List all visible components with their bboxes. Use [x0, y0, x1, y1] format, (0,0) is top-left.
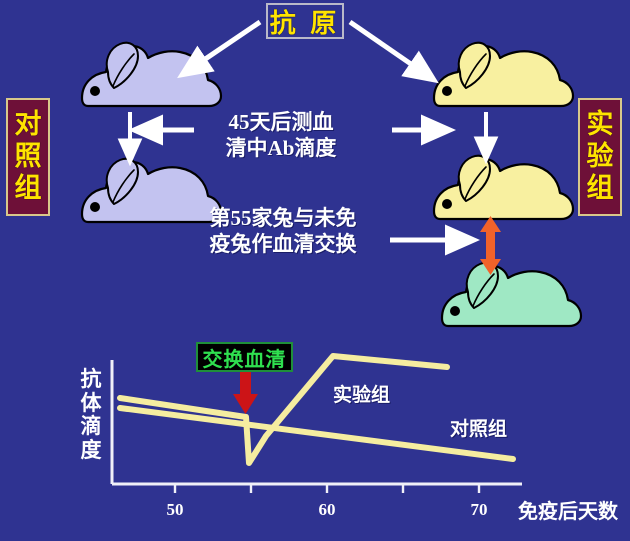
chart-exchange-down-arrow — [233, 372, 258, 414]
step1-line-1: 45天后测血 — [206, 110, 356, 136]
y-axis-char-1: 抗 — [78, 368, 104, 392]
chart-x-axis-title: 免疫后天数 — [518, 495, 618, 524]
control-group-banner: 对 照 组 — [6, 98, 50, 216]
experimental-rabbit-mid — [434, 156, 573, 219]
serum-exchange-box: 交换血清 — [196, 342, 293, 372]
arrow-antigen-to-experimental — [350, 22, 424, 73]
antigen-label: 抗 原 — [270, 3, 341, 40]
control-rabbit-top — [82, 43, 221, 106]
control-group-char-3: 组 — [15, 173, 42, 205]
step2-line-1: 第55家兔与未免 — [198, 206, 368, 232]
slide-canvas: 抗 原 对 照 组 实 验 组 45天后测血 清中Ab滴度 第55家兔与未免 疫… — [0, 0, 630, 541]
experimental-group-banner: 实 验 组 — [578, 98, 622, 216]
chart-label-experimental: 实验组 — [333, 380, 390, 407]
experimental-group-char-1: 实 — [587, 109, 614, 141]
step2-caption: 第55家兔与未免 疫兔作血清交换 — [198, 206, 368, 257]
y-axis-char-2: 体 — [78, 392, 104, 416]
experimental-group-char-3: 组 — [587, 173, 614, 205]
x-tick-label-70: 70 — [459, 500, 499, 520]
chart-y-axis-label: 抗 体 滴 度 — [78, 368, 104, 462]
serum-exchange-label: 交换血清 — [203, 343, 287, 372]
arrow-antigen-to-control — [192, 22, 260, 68]
antigen-label-box: 抗 原 — [266, 3, 344, 39]
naive-rabbit-green — [442, 263, 581, 326]
y-axis-char-4: 度 — [78, 439, 104, 463]
x-tick-label-60: 60 — [307, 500, 347, 520]
chart-label-control: 对照组 — [450, 414, 507, 441]
x-tick-label-50: 50 — [155, 500, 195, 520]
control-group-char-1: 对 — [15, 109, 42, 141]
step2-line-2: 疫兔作血清交换 — [198, 232, 368, 258]
y-axis-char-3: 滴 — [78, 415, 104, 439]
step1-line-2: 清中Ab滴度 — [206, 136, 356, 162]
step1-caption: 45天后测血 清中Ab滴度 — [206, 110, 356, 161]
experimental-rabbit-top — [434, 43, 573, 106]
control-group-char-2: 照 — [15, 141, 42, 173]
experimental-group-char-2: 验 — [587, 141, 614, 173]
